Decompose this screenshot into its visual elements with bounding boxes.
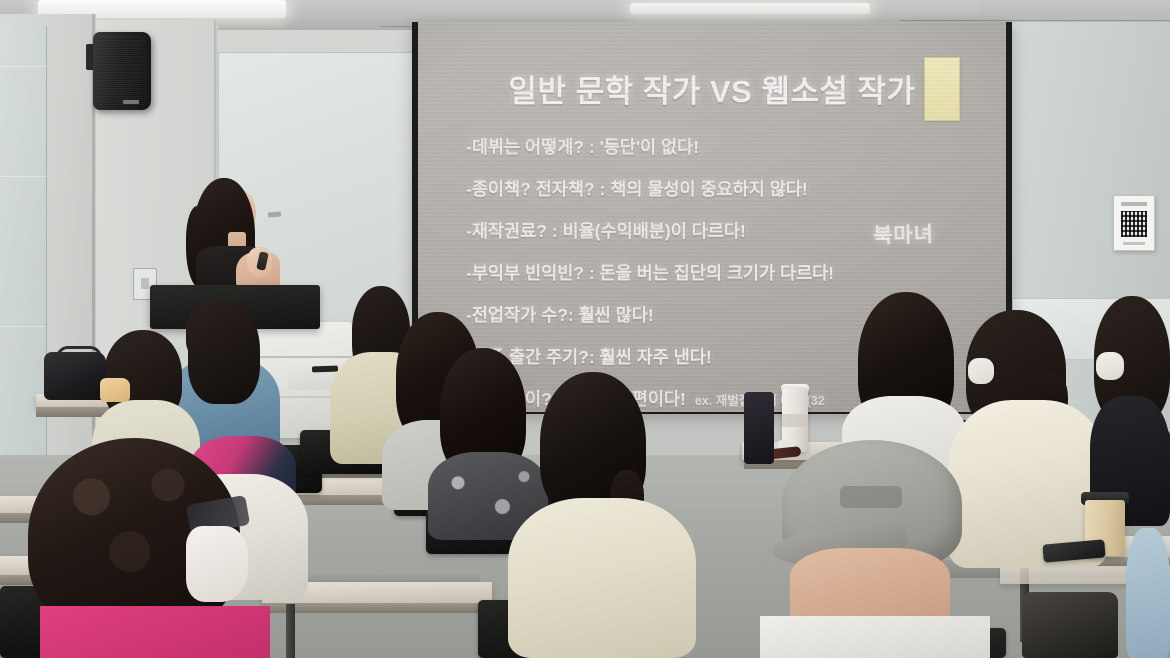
poster-subtitle-line (1123, 242, 1145, 245)
qr-code-poster (1113, 195, 1155, 251)
slide-bullet-text: -부익부 빈익빈? : 돈을 버는 집단의 크기가 다르다! (466, 263, 834, 283)
speaker-badge (123, 100, 139, 104)
torso (760, 616, 990, 658)
poster-title-line (1121, 202, 1147, 206)
slide-signature: 북마녀 (873, 218, 935, 250)
slide-bullet-text: -종이책? 전자책? : 책의 물성이 중요하지 않다! (466, 179, 808, 199)
backpack-left (44, 352, 106, 400)
face-mask (968, 358, 994, 384)
snack-item (100, 378, 130, 402)
slide-bullet: -종이책? 전자책? : 책의 물성이 중요하지 않다! (466, 176, 996, 201)
ceiling-light-right (630, 3, 870, 14)
hair (188, 300, 260, 404)
qr-code-icon (1121, 211, 1147, 237)
torso (508, 498, 696, 658)
torso (40, 606, 270, 658)
face-mask (1096, 352, 1124, 380)
speaker-grille (97, 36, 147, 106)
slide-bullet-text: -재작권료? : 비율(수익배분)이 다르다! (466, 221, 746, 241)
slide-title: 일반 문학 작가 VS 웹소설 작가 (418, 66, 1006, 111)
podium-remote (312, 366, 338, 373)
lecture-room-photo: 일반 문학 작가 VS 웹소설 작가 -데뷔는 어떻게? : '등단'이 없다!… (0, 0, 1170, 658)
slide-bullet-text: -데뷔는 어떻게? : '등단'이 없다! (466, 137, 699, 157)
wall-speaker (93, 32, 151, 110)
ceiling-seam-2 (900, 20, 1170, 21)
tumbler-band (782, 414, 808, 427)
torso (1126, 528, 1170, 658)
whiteboard-marking (268, 212, 281, 218)
slide-bullet: -데뷔는 어떻게? : '등단'이 없다! (466, 134, 996, 159)
bag-on-desk (744, 392, 774, 464)
slide-bullet-text: -전업작가 수?: 훨씬 많다! (466, 305, 654, 325)
slide-bullet: -부익부 빈익빈? : 돈을 버는 집단의 크기가 다르다! (466, 260, 996, 285)
backpack-right (1022, 592, 1118, 658)
cap-strap (840, 486, 902, 508)
face-mask (186, 526, 248, 602)
